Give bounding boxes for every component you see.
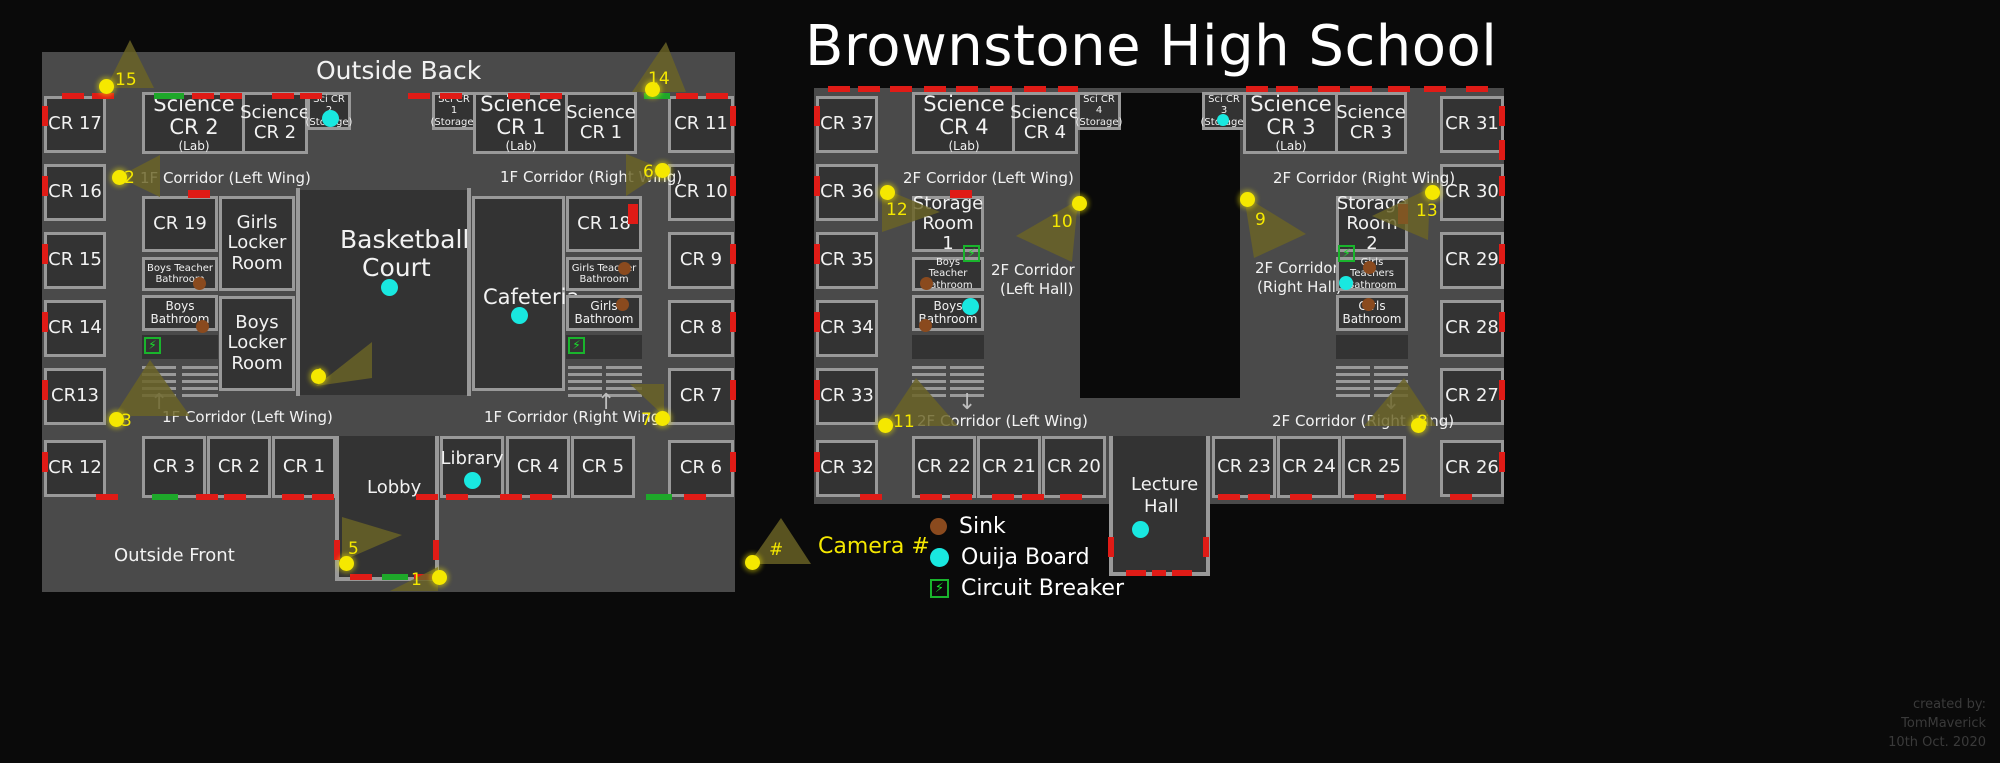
circuit-breaker-icon: ⚡ [930, 579, 949, 598]
sink-dot-icon [920, 277, 933, 290]
sink-dot-icon [1363, 261, 1376, 274]
camera-4-number: 4 [313, 366, 324, 386]
room-cr1[interactable]: CR 1 [272, 436, 336, 498]
outside-back-label: Outside Back [316, 57, 446, 86]
lobby-label: Lobby [367, 478, 421, 499]
camera-8-number: 8 [1417, 412, 1428, 432]
legend-item-sink: Sink [930, 514, 1006, 539]
floorplan-canvas: Brownstone High School Outside Back Outs… [0, 0, 2000, 763]
camera-10-marker[interactable] [1072, 196, 1087, 211]
camera-6-number: 6 [643, 162, 654, 182]
room-cr20[interactable]: CR 20 [1042, 436, 1106, 498]
camera-10-number: 10 [1051, 212, 1073, 232]
credits: created by: TomMaverick 10th Oct. 2020 [1888, 696, 1986, 753]
room-cr15[interactable]: CR 15 [44, 232, 106, 289]
corridor-label-2f-right-wing-top: 2F Corridor (Right Wing) [1273, 170, 1455, 187]
room-science-cr2-lab[interactable]: Science CR 2 (Lab) [142, 92, 246, 154]
room-boys-locker-room[interactable]: Boys Locker Room [219, 296, 295, 391]
page-title: Brownstone High School [805, 14, 1497, 79]
ouija-dot-icon [962, 298, 979, 315]
ouija-dot-icon [322, 110, 339, 127]
room-science-cr4[interactable]: Science CR 4 [1012, 92, 1078, 154]
room-cr21[interactable]: CR 21 [977, 436, 1041, 498]
outside-front-label: Outside Front [114, 546, 210, 567]
circuit-breaker-icon: ⚡ [1338, 245, 1355, 262]
room-cr28[interactable]: CR 28 [1440, 300, 1504, 357]
sink-dot-icon [618, 262, 631, 275]
camera-5-number: 5 [348, 539, 359, 559]
room-cr14[interactable]: CR 14 [44, 300, 106, 357]
credits-line-1: created by: [1888, 696, 1986, 715]
room-cr12[interactable]: CR 12 [44, 440, 106, 497]
sink-dot-icon [193, 277, 206, 290]
camera-11-marker[interactable] [878, 418, 893, 433]
room-cr35[interactable]: CR 35 [816, 232, 878, 289]
camera-12-marker[interactable] [880, 185, 895, 200]
credits-line-3: 10th Oct. 2020 [1888, 734, 1986, 753]
room-closet-2f-left[interactable] [912, 335, 984, 359]
room-girls-locker-room[interactable]: Girls Locker Room [219, 196, 295, 291]
camera-7-marker[interactable] [655, 411, 670, 426]
room-cr33[interactable]: CR 33 [816, 368, 878, 425]
corridor-label-2f-left-wing-top: 2F Corridor (Left Wing) [903, 170, 1074, 187]
room-cr22[interactable]: CR 22 [912, 436, 976, 498]
legend-item-ouija: Ouija Board [930, 545, 1090, 570]
camera-7-number: 7 [641, 410, 652, 430]
credits-line-2: TomMaverick [1888, 715, 1986, 734]
camera-12-number: 12 [886, 200, 908, 220]
room-cr25[interactable]: CR 25 [1342, 436, 1406, 498]
room-science-cr1[interactable]: Science CR 1 [565, 92, 637, 154]
stairs-up-arrow-icon: ↑ [597, 392, 615, 414]
room-girls-bathroom[interactable]: Girls Bathroom [566, 295, 642, 331]
legend-sink-label: Sink [959, 514, 1006, 539]
sink-dot-icon [930, 518, 947, 535]
legend-item-breaker: ⚡ Circuit Breaker [930, 576, 1124, 601]
room-cr9[interactable]: CR 9 [668, 232, 734, 289]
room-girls-teacher-bathroom[interactable]: Girls Teacher Bathroom [566, 257, 642, 291]
room-cr24[interactable]: CR 24 [1277, 436, 1341, 498]
camera-13-marker[interactable] [1425, 185, 1440, 200]
room-cr5[interactable]: CR 5 [571, 436, 635, 498]
camera-6-marker[interactable] [655, 163, 670, 178]
cafeteria-label: Cafeteria [483, 285, 579, 309]
camera-15-marker[interactable] [99, 79, 114, 94]
room-cr11[interactable]: CR 11 [668, 96, 734, 153]
ouija-dot-icon [381, 279, 398, 296]
sink-dot-icon [919, 319, 932, 332]
floor2-atrium [1080, 93, 1240, 398]
camera-9-marker[interactable] [1240, 192, 1255, 207]
corridor-label-2f-left-hall-2: (Left Hall) [1000, 281, 1074, 298]
camera-1-number: 1 [411, 570, 422, 590]
ouija-dot-icon [1132, 521, 1149, 538]
camera-legend-hash: # [769, 540, 783, 560]
ouija-dot-icon [464, 472, 481, 489]
room-science-cr1-lab[interactable]: Science CR 1 (Lab) [473, 92, 569, 154]
room-cr37[interactable]: CR 37 [816, 96, 878, 153]
camera-legend-marker [745, 555, 760, 570]
legend-breaker-label: Circuit Breaker [961, 576, 1124, 601]
room-cr3[interactable]: CR 3 [142, 436, 206, 498]
camera-2-number: 2 [124, 168, 135, 188]
room-science-cr2[interactable]: Science CR 2 [242, 92, 308, 154]
ouija-dot-icon [930, 548, 949, 567]
sink-dot-icon [196, 320, 209, 333]
ouija-dot-icon [511, 307, 528, 324]
room-science-cr4-lab[interactable]: Science CR 4 (Lab) [912, 92, 1016, 154]
room-science-cr3-lab[interactable]: Science CR 3 (Lab) [1243, 92, 1339, 154]
room-boys-teacher-bathroom[interactable]: Boys Teacher Bathroom [142, 257, 218, 291]
lecture-hall-label-2: Hall [1144, 497, 1179, 518]
room-science-cr3[interactable]: Science CR 3 [1335, 92, 1407, 154]
room-cr23[interactable]: CR 23 [1212, 436, 1276, 498]
camera-11-number: 11 [893, 412, 915, 432]
camera-15-number: 15 [115, 70, 137, 90]
room-cr19[interactable]: CR 19 [142, 196, 218, 252]
room-cr32[interactable]: CR 32 [816, 440, 878, 497]
camera-1-marker[interactable] [432, 570, 447, 585]
camera-cone-10 [1012, 200, 1082, 268]
room-cr8[interactable]: CR 8 [668, 300, 734, 357]
ouija-dot-icon [1217, 114, 1229, 126]
room-cr13[interactable]: CR13 [44, 368, 106, 425]
room-cr31[interactable]: CR 31 [1440, 96, 1504, 153]
camera-9-number: 9 [1255, 210, 1266, 230]
circuit-breaker-icon: ⚡ [144, 337, 161, 354]
camera-14-number: 14 [648, 69, 670, 89]
room-cr29[interactable]: CR 29 [1440, 232, 1504, 289]
room-cr17[interactable]: CR 17 [44, 96, 106, 153]
sink-dot-icon [616, 298, 629, 311]
room-closet-2f-right[interactable] [1336, 335, 1408, 359]
camera-13-number: 13 [1416, 201, 1438, 221]
room-cr2[interactable]: CR 2 [207, 436, 271, 498]
lecture-hall-label: Lecture [1131, 475, 1198, 496]
room-cr6[interactable]: CR 6 [668, 440, 734, 497]
camera-3-number: 3 [121, 411, 132, 431]
camera-legend-label: Camera # [818, 534, 930, 559]
room-cr4[interactable]: CR 4 [506, 436, 570, 498]
basketball-court-label: Basketball [340, 226, 469, 255]
ouija-dot-icon [1339, 276, 1353, 290]
circuit-breaker-icon: ⚡ [963, 245, 980, 262]
corridor-label-2f-right-hall-2: (Right Hall) [1257, 279, 1342, 296]
room-cr34[interactable]: CR 34 [816, 300, 878, 357]
room-sci-cr4-storage[interactable]: Sci CR 4 (Storage) [1077, 92, 1121, 130]
room-cr16[interactable]: CR 16 [44, 164, 106, 221]
basketball-court-label-2: Court [362, 254, 431, 283]
legend-ouija-label: Ouija Board [961, 545, 1090, 570]
room-cr36[interactable]: CR 36 [816, 164, 878, 221]
sink-dot-icon [1362, 298, 1375, 311]
circuit-breaker-icon: ⚡ [568, 337, 585, 354]
room-cr26[interactable]: CR 26 [1440, 440, 1504, 497]
